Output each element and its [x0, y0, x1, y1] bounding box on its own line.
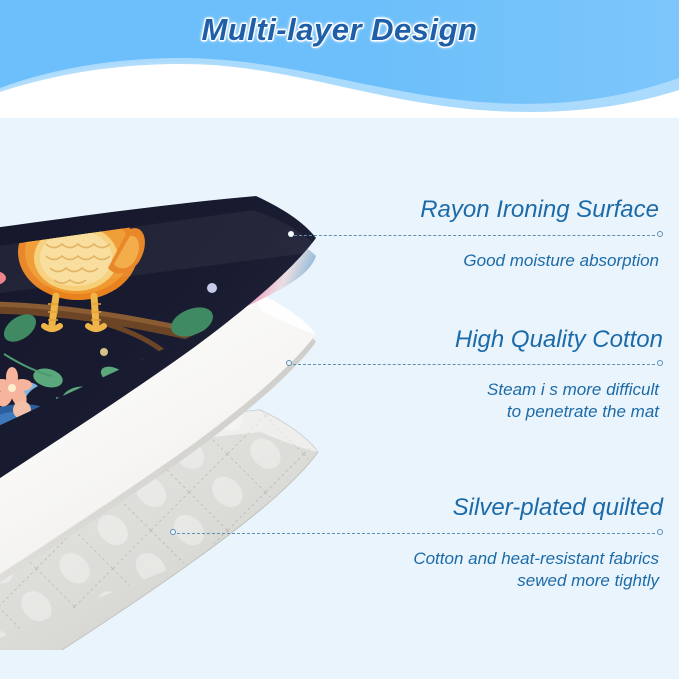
connector-dash-1 [294, 235, 655, 236]
connector-start-dot-2 [286, 360, 292, 366]
connector-line-3 [170, 528, 663, 540]
callout-title-2: High Quality Cotton [286, 326, 663, 354]
callout-rayon-ironing-surface: Rayon Ironing Surface Good moisture abso… [288, 196, 663, 272]
connector-end-dot-1 [657, 231, 663, 237]
callout-sub-2-line-2: to penetrate the mat [286, 401, 663, 423]
header-wave-graphic [0, 0, 679, 118]
connector-line-2 [286, 359, 663, 371]
callout-sub-3-line-2: sewed more tightly [170, 570, 663, 592]
callout-title-1: Rayon Ironing Surface [288, 196, 663, 224]
callout-sub-2-line-1: Steam i s more difficult [286, 379, 663, 401]
connector-end-dot-3 [657, 529, 663, 535]
callout-title-3: Silver-plated quilted [170, 494, 663, 522]
infographic-canvas: Multi-layer Design [0, 0, 679, 679]
connector-dash-2 [293, 364, 655, 365]
connector-end-dot-2 [657, 360, 663, 366]
callout-sub-1-line-1: Good moisture absorption [288, 250, 663, 272]
connector-line-1 [288, 230, 663, 242]
connector-start-dot-3 [170, 529, 176, 535]
callout-high-quality-cotton: High Quality Cotton Steam i s more diffi… [286, 326, 663, 423]
callout-sub-3-line-1: Cotton and heat-resistant fabrics [170, 548, 663, 570]
header-banner: Multi-layer Design [0, 0, 679, 118]
callout-silver-plated-quilted: Silver-plated quilted Cotton and heat-re… [170, 494, 663, 592]
connector-dash-3 [177, 533, 655, 534]
